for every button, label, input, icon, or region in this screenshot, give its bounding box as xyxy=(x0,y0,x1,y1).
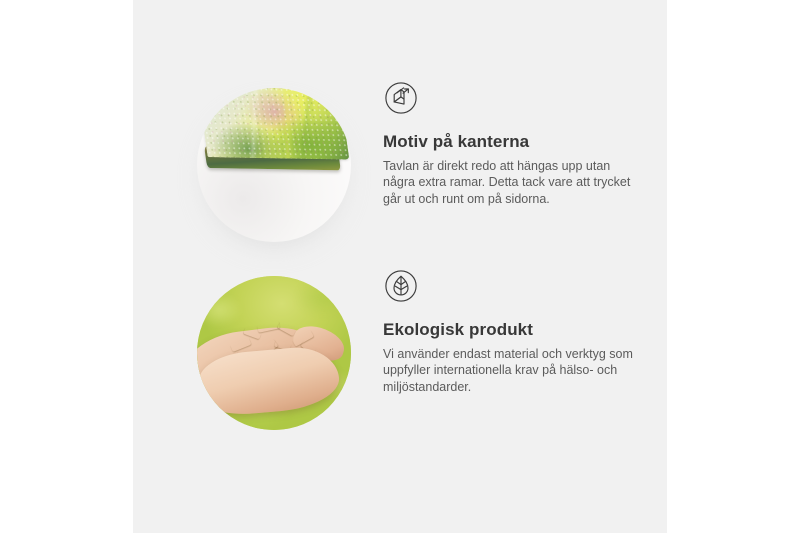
canvas-scene-background xyxy=(197,88,351,242)
feature-description: Tavlan är direkt redo att hängas upp uta… xyxy=(383,158,641,207)
leaf-icon xyxy=(383,268,419,304)
canvas-print-object xyxy=(197,88,351,228)
canvas-printed-face xyxy=(197,88,349,160)
canvas-print-corner-photo xyxy=(197,88,351,242)
feature-title: Motiv på kanterna xyxy=(383,132,653,152)
feature-title: Ekologisk produkt xyxy=(383,320,653,340)
feature-text-column: Ekologisk produkt Vi använder endast mat… xyxy=(383,268,653,395)
photo-circle-mask xyxy=(197,276,351,430)
grass-background xyxy=(197,276,351,430)
feature-block-ekologisk-produkt: Ekologisk produkt Vi använder endast mat… xyxy=(133,268,667,443)
photo-circle-mask xyxy=(197,88,351,242)
canvas-wrapped-edge-icon xyxy=(383,80,419,116)
feature-text-column: Motiv på kanterna Tavlan är direkt redo … xyxy=(383,80,653,207)
content-panel: Motiv på kanterna Tavlan är direkt redo … xyxy=(133,0,667,533)
hands-holding-wood-chips-photo xyxy=(197,276,351,430)
feature-description: Vi använder endast material och verktyg … xyxy=(383,346,641,395)
product-feature-infographic: Motiv på kanterna Tavlan är direkt redo … xyxy=(0,0,800,533)
feature-block-motiv-pa-kanterna: Motiv på kanterna Tavlan är direkt redo … xyxy=(133,80,667,255)
